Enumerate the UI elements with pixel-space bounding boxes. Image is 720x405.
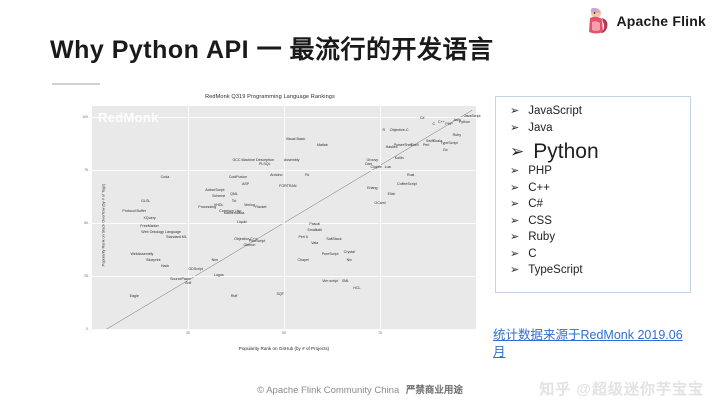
- x-axis-label: Popularity Rank on GitHub (by # of Proje…: [92, 346, 476, 351]
- scatter-point-label: HCL: [353, 287, 360, 291]
- scatter-point-label: Perl 6: [298, 236, 307, 240]
- y-gridline: [92, 117, 476, 118]
- scatter-point-label: Common Lisp: [219, 210, 241, 214]
- flink-squirrel-icon: [584, 6, 610, 36]
- scatter-point-label: Nim: [212, 259, 218, 263]
- scatter-point-label: C: [432, 123, 435, 127]
- scatter-point-label: ColdFusion: [229, 176, 247, 180]
- slide-canvas: Apache Flink Why Python API 一 最流行的开发语言 R…: [0, 0, 720, 405]
- zhihu-watermark: 知乎 @超级迷你芋宝宝: [539, 378, 704, 399]
- scatter-point-label: TypeScript: [441, 142, 458, 146]
- footer-notice: 严禁商业用途: [406, 385, 463, 396]
- arrow-bullet-icon: ➢: [510, 183, 519, 194]
- scatter-point-label: Logos: [214, 274, 224, 278]
- scatter-point-label: Kotlin: [395, 157, 404, 161]
- scatter-point-label: GLSL: [141, 200, 150, 204]
- x-axis-tick: 75: [378, 331, 382, 335]
- scatter-point-label: ActionScript: [205, 189, 224, 193]
- language-item-ruby[interactable]: ➢Ruby: [510, 231, 690, 248]
- x-axis-tick: 25: [186, 331, 190, 335]
- scatter-point-label: C#: [420, 117, 425, 121]
- source-link[interactable]: 统计数据来源于RedMonk 2019.06月: [493, 327, 693, 361]
- arrow-bullet-icon: ➢: [510, 249, 519, 260]
- scatter-point-label: XQuery: [144, 217, 156, 221]
- scatter-point-label: SaltStack: [326, 238, 341, 242]
- language-item-c-[interactable]: ➢C++: [510, 182, 690, 199]
- y-gridline: [92, 170, 476, 171]
- chart-title: RedMonk Q319 Programming Language Rankin…: [60, 94, 480, 100]
- arrow-bullet-icon: ➢: [510, 166, 519, 177]
- scatter-point-label: Protocol Buffer: [122, 210, 146, 214]
- language-item-c[interactable]: ➢C: [510, 248, 690, 265]
- language-label: C++: [528, 182, 550, 194]
- scatter-point-label: Perl: [423, 145, 429, 149]
- scatter-point-label: Java: [453, 119, 461, 123]
- scatter-point-label: Golf: [185, 283, 192, 287]
- scatter-point-label: Scala: [433, 140, 442, 144]
- y-gridline: [92, 276, 476, 277]
- chart-plot-area: RedMonk 2550750 -25 -50 -75 -100 -JavaSc…: [92, 106, 476, 329]
- language-label: Java: [528, 122, 552, 134]
- language-label: TypeScript: [528, 264, 582, 276]
- language-label: JavaScript: [528, 105, 582, 117]
- scatter-point-label: JavaScript: [464, 115, 481, 119]
- arrow-bullet-icon: ➢: [510, 143, 524, 160]
- language-label: C#: [528, 198, 543, 210]
- scatter-point-label: SQF: [276, 293, 283, 297]
- scatter-point-label: Go: [443, 149, 448, 153]
- scatter-point-label: Erlang: [367, 187, 377, 191]
- scatter-point-label: Verilog: [244, 204, 255, 208]
- scatter-point-label: Lua: [385, 166, 391, 170]
- scatter-point-label: Hack: [161, 266, 169, 270]
- language-item-c-[interactable]: ➢C#: [510, 198, 690, 215]
- y-axis-tick: 50 -: [84, 221, 90, 225]
- scatter-point-label: Clojure: [370, 166, 381, 170]
- language-item-javascript[interactable]: ➢JavaScript: [510, 105, 690, 122]
- scatter-point-label: XML: [342, 280, 349, 284]
- y-axis-tick: 25 -: [84, 274, 90, 278]
- title-divider: [52, 83, 100, 85]
- language-label: PHP: [528, 165, 552, 177]
- language-item-css[interactable]: ➢CSS: [510, 215, 690, 232]
- source-link-line1: 统计数据来源于RedMonk: [493, 328, 634, 342]
- scatter-point-label: Tcl: [232, 200, 236, 204]
- scatter-point-label: Assembly: [284, 159, 300, 163]
- scatter-point-label: Vala: [311, 242, 318, 246]
- scatter-point-label: Visual Basic: [286, 138, 306, 142]
- scatter-point-label: Ruff: [231, 295, 238, 299]
- scatter-point-label: ASP: [242, 183, 249, 187]
- brand-name: Apache Flink: [616, 13, 706, 29]
- x-axis-tick: 50: [282, 331, 286, 335]
- scatter-point-label: PLSQL: [259, 164, 271, 168]
- scatter-point-label: Objective-C: [390, 130, 409, 134]
- scatter-point-label: Pascal: [309, 223, 320, 227]
- scatter-point-label: Haskell: [386, 147, 398, 151]
- y-gridline: [92, 329, 476, 330]
- language-item-typescript[interactable]: ➢TypeScript: [510, 264, 690, 281]
- language-label: C: [528, 248, 536, 260]
- brand-lockup: Apache Flink: [584, 6, 706, 36]
- y-axis-tick: 100 -: [82, 115, 90, 119]
- y-axis-label: Popularity Rank on Stack Overflow (by # …: [101, 183, 105, 266]
- scatter-point-label: Vim script: [322, 280, 338, 284]
- page-title: Why Python API 一 最流行的开发语言: [50, 30, 494, 66]
- scatter-point-label: C++: [438, 121, 445, 125]
- scatter-point-label: FreeMarker: [140, 225, 159, 229]
- scatter-point-label: WebAssembly: [130, 253, 153, 257]
- x-gridline: [188, 106, 189, 329]
- scatter-point-label: Chapel: [297, 259, 308, 263]
- arrow-bullet-icon: ➢: [510, 265, 519, 276]
- scatter-point-label: Standard ML: [166, 236, 187, 240]
- scatter-point-label: FORTRAN: [279, 185, 296, 189]
- scatter-point-label: Processing: [198, 206, 216, 210]
- scatter-point-label: Ruby: [453, 134, 461, 138]
- scatter-point-label: Nix: [347, 259, 352, 263]
- scatter-point-label: Racket: [255, 206, 266, 210]
- scatter-point-label: Smalltalk: [307, 230, 322, 234]
- arrow-bullet-icon: ➢: [510, 199, 519, 210]
- scatter-point-label: Blueprint: [146, 259, 160, 263]
- language-item-java[interactable]: ➢Java: [510, 122, 690, 139]
- language-label: Python: [533, 140, 598, 164]
- scatter-point-label: Eagle: [130, 295, 139, 299]
- scatter-point-label: R: [383, 130, 386, 134]
- arrow-bullet-icon: ➢: [510, 106, 519, 117]
- footer-copyright: © Apache Flink Community China: [257, 385, 399, 396]
- x-gridline: [380, 106, 381, 329]
- scatter-point-label: PureScript: [322, 253, 339, 257]
- scatter-point-label: PHP: [445, 123, 452, 127]
- scatter-point-label: Rust: [407, 174, 414, 178]
- scatter-point-label: Scheme: [212, 196, 225, 200]
- y-axis-tick: 75 -: [84, 168, 90, 172]
- scatter-point-label: Arduino: [270, 174, 282, 178]
- scatter-point-label: CoffeeScript: [397, 183, 417, 187]
- scatter-point-label: Liquid: [237, 221, 247, 225]
- language-label: Ruby: [528, 231, 555, 243]
- y-axis-tick: 0 -: [86, 327, 90, 331]
- scatter-point-label: Crystal: [344, 251, 355, 255]
- top-languages-list: ➢JavaScript➢Java➢Python➢PHP➢C++➢C#➢CSS➢R…: [495, 96, 691, 293]
- arrow-bullet-icon: ➢: [510, 216, 519, 227]
- scatter-point-label: QML: [230, 193, 238, 197]
- scatter-point-label: F#: [305, 174, 309, 178]
- scatter-point-label: OCaml: [374, 202, 385, 206]
- redmonk-scatter-chart: RedMonk Q319 Programming Language Rankin…: [60, 92, 480, 357]
- language-item-python[interactable]: ➢Python: [510, 138, 690, 165]
- arrow-bullet-icon: ➢: [510, 232, 519, 243]
- arrow-bullet-icon: ➢: [510, 123, 519, 134]
- scatter-point-label: Matlab: [317, 145, 328, 149]
- language-label: CSS: [528, 215, 552, 227]
- scatter-point-label: Cuda: [161, 176, 170, 180]
- scatter-point-label: Elixir: [388, 193, 396, 197]
- scatter-point-label: Oberon: [243, 244, 255, 248]
- scatter-point-label: GDScript: [188, 268, 203, 272]
- language-item-php[interactable]: ➢PHP: [510, 165, 690, 182]
